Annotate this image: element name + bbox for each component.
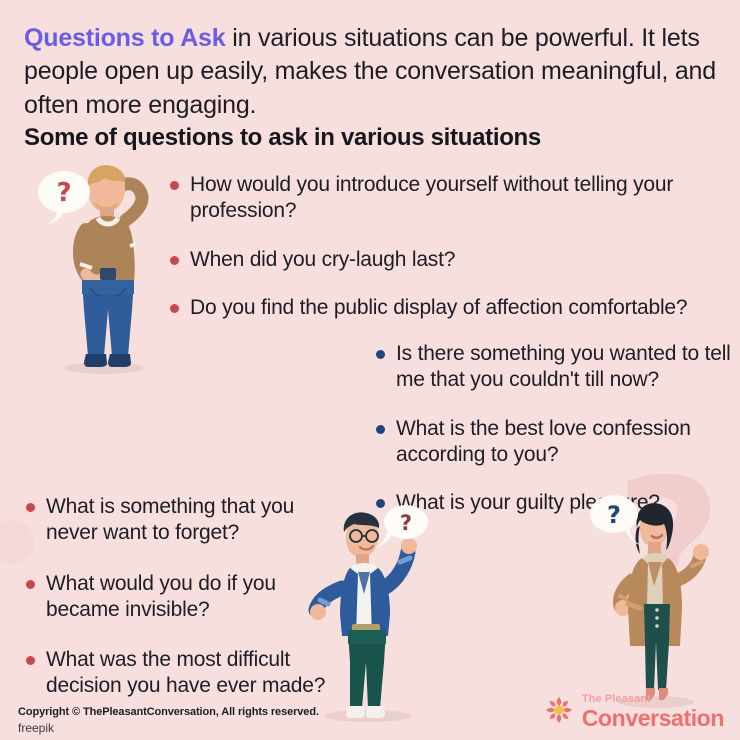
brand-main-line: Conversation xyxy=(582,707,724,730)
svg-text:?: ? xyxy=(56,178,71,208)
svg-text:?: ? xyxy=(400,511,412,535)
subheading: Some of questions to ask in various situ… xyxy=(24,124,541,152)
man-gesturing-svg: ? xyxy=(296,502,446,724)
question-group-1: How would you introduce yourself without… xyxy=(170,172,730,343)
bullet-dot xyxy=(26,656,35,665)
bullet-dot xyxy=(170,304,179,313)
infographic-canvas: ? Questions to Ask in various situations… xyxy=(0,0,740,740)
flower-burst-icon xyxy=(544,695,574,730)
illustration-man-thinking: ? xyxy=(34,160,164,375)
question-text: How would you introduce yourself without… xyxy=(190,172,730,225)
bullet-dot xyxy=(170,256,179,265)
woman-camel-coat-svg: ? xyxy=(582,478,730,710)
brand-wordmark: The Pleasant Conversation xyxy=(582,694,724,730)
question-text: Is there something you wanted to tell me… xyxy=(396,341,732,394)
bullet-dot xyxy=(26,503,35,512)
brand-top-line: The Pleasant xyxy=(582,694,724,705)
bullet-dot xyxy=(376,350,385,359)
question-text: When did you cry-laugh last? xyxy=(190,247,455,273)
question-item: How would you introduce yourself without… xyxy=(170,172,730,225)
credit-text: freepik xyxy=(18,721,54,735)
intro-highlight: Questions to Ask xyxy=(24,24,225,52)
brand-logo[interactable]: The Pleasant Conversation xyxy=(544,694,724,730)
illustration-man-gesturing: ? xyxy=(296,502,446,724)
question-item: What is the best love confession accordi… xyxy=(376,416,732,469)
question-text: What is the best love confession accordi… xyxy=(396,416,732,469)
copyright-text: Copyright © ThePleasantConversation, All… xyxy=(18,706,319,718)
bullet-dot xyxy=(26,580,35,589)
bullet-dot xyxy=(170,181,179,190)
question-item: Do you find the public display of affect… xyxy=(170,295,730,321)
question-item: Is there something you wanted to tell me… xyxy=(376,341,732,394)
intro-paragraph: Questions to Ask in various situations c… xyxy=(24,22,724,122)
bullet-dot xyxy=(376,425,385,434)
man-thinking-svg: ? xyxy=(34,160,164,375)
question-text: Do you find the public display of affect… xyxy=(190,295,687,321)
question-item: When did you cry-laugh last? xyxy=(170,247,730,273)
svg-text:?: ? xyxy=(607,501,621,529)
illustration-woman-camel-coat: ? xyxy=(582,478,730,710)
